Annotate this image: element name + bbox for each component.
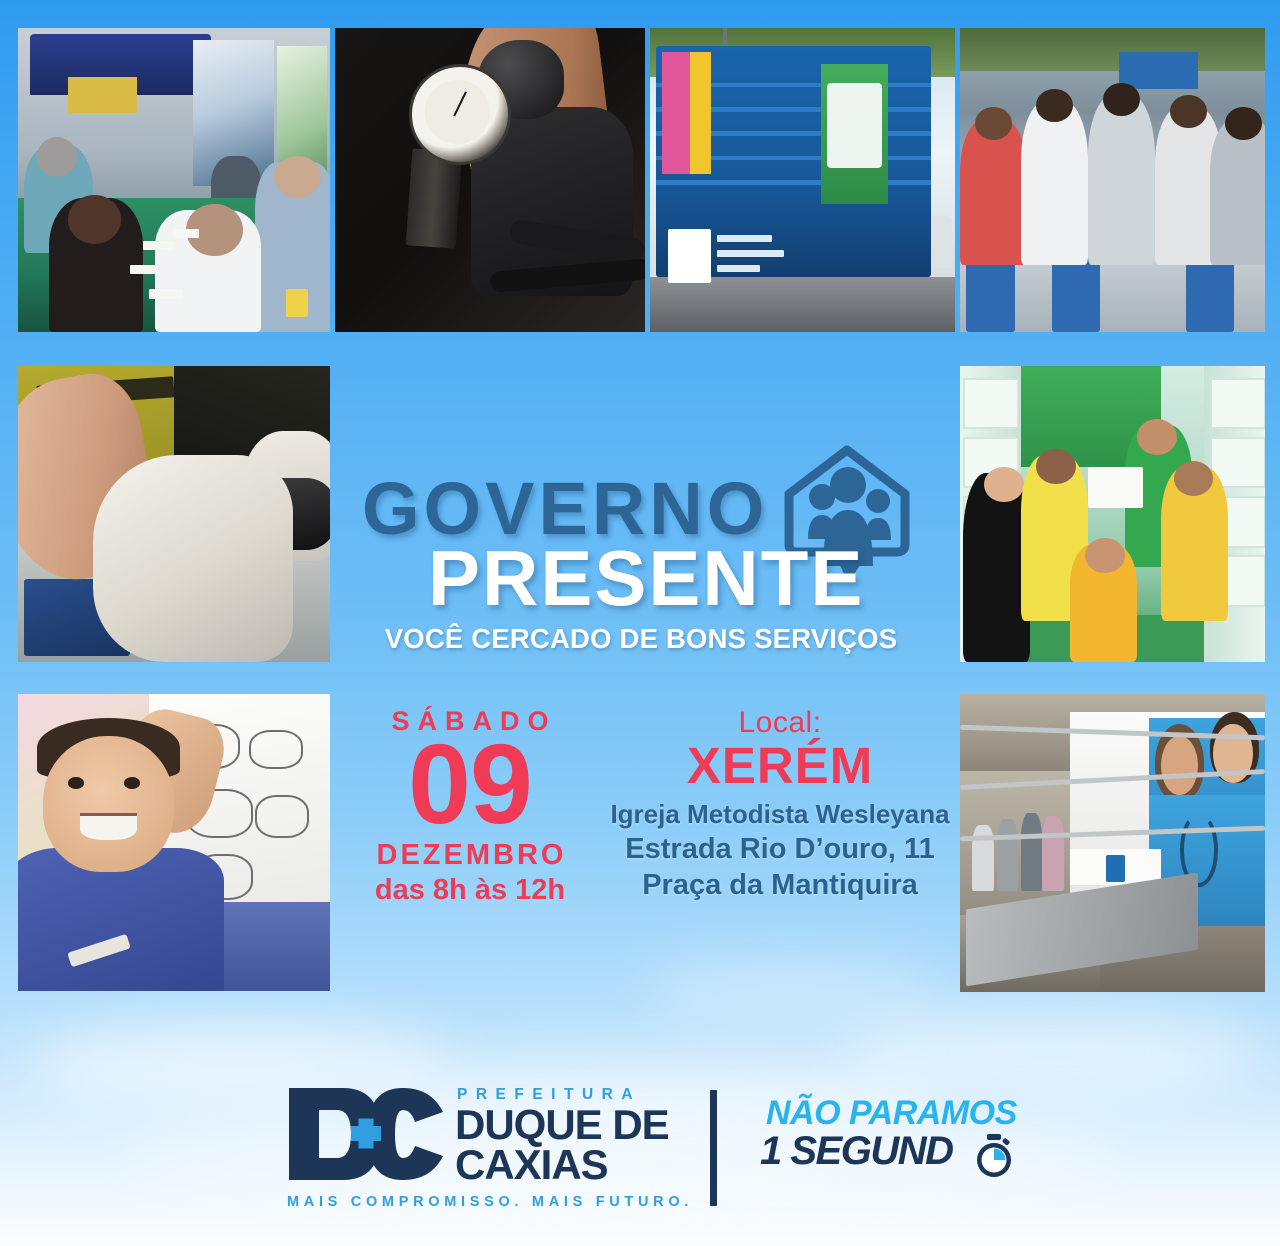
campaign-line-1: NÃO PARAMOS: [766, 1094, 1017, 1133]
campaign-lockup: NÃO PARAMOS 1 SEGUND: [760, 1094, 1020, 1190]
dc-monogram-icon: [285, 1084, 447, 1184]
location-label: Local:: [600, 706, 960, 740]
photo-glucose-test: [18, 366, 330, 662]
event-day-number: 09: [352, 733, 588, 837]
campaign-line-2: 1 SEGUND: [760, 1129, 953, 1174]
photo-child-drawing: [18, 694, 330, 991]
stopwatch-icon: [974, 1134, 1014, 1178]
photo-mobile-clinic: [960, 694, 1265, 992]
headline-presente: PRESENTE: [428, 533, 864, 624]
event-month: DEZEMBRO: [352, 839, 588, 872]
brand-name-line-1: DUQUE DE: [455, 1104, 669, 1146]
tagline: VOCÊ CERCADO DE BONS SERVIÇOS: [355, 623, 927, 655]
photo-mobile-school: [650, 28, 955, 332]
location-address-line-1: Igreja Metodista Wesleyana: [600, 799, 960, 830]
location-address-line-3: Praça da Mantiquira: [600, 869, 960, 902]
photo-blood-pressure: [335, 28, 645, 332]
event-hours: das 8h às 12h: [352, 874, 588, 907]
footer-bar: PREFEITURA DUQUE DE CAXIAS MAIS COMPROMI…: [0, 1060, 1280, 1246]
location-address-line-2: Estrada Rio D’ouro, 11: [600, 833, 960, 866]
photo-service-tables: [960, 28, 1265, 332]
brand-name-line-2: CAXIAS: [455, 1144, 608, 1186]
footer-divider: [710, 1090, 717, 1206]
photo-mobile-library: [960, 366, 1265, 662]
event-date-block: SÁBADO 09 DEZEMBRO das 8h às 12h: [352, 706, 588, 907]
headline-block: GOVERNO PRESENTE VOCÊ CERCADO DE BONS SE…: [340, 440, 940, 670]
cloud-wisp: [640, 955, 940, 1025]
brand-slogan: MAIS COMPROMISSO. MAIS FUTURO.: [287, 1194, 693, 1210]
location-name: XERÉM: [600, 736, 960, 795]
city-hall-brand-lockup: PREFEITURA DUQUE DE CAXIAS MAIS COMPROMI…: [285, 1082, 695, 1214]
event-location-block: Local: XERÉM Igreja Metodista Wesleyana …: [600, 706, 960, 902]
photo-health-fair: [18, 28, 330, 332]
poster-canvas: GOVERNO PRESENTE VOCÊ CERCADO DE BONS SE…: [0, 0, 1280, 1246]
